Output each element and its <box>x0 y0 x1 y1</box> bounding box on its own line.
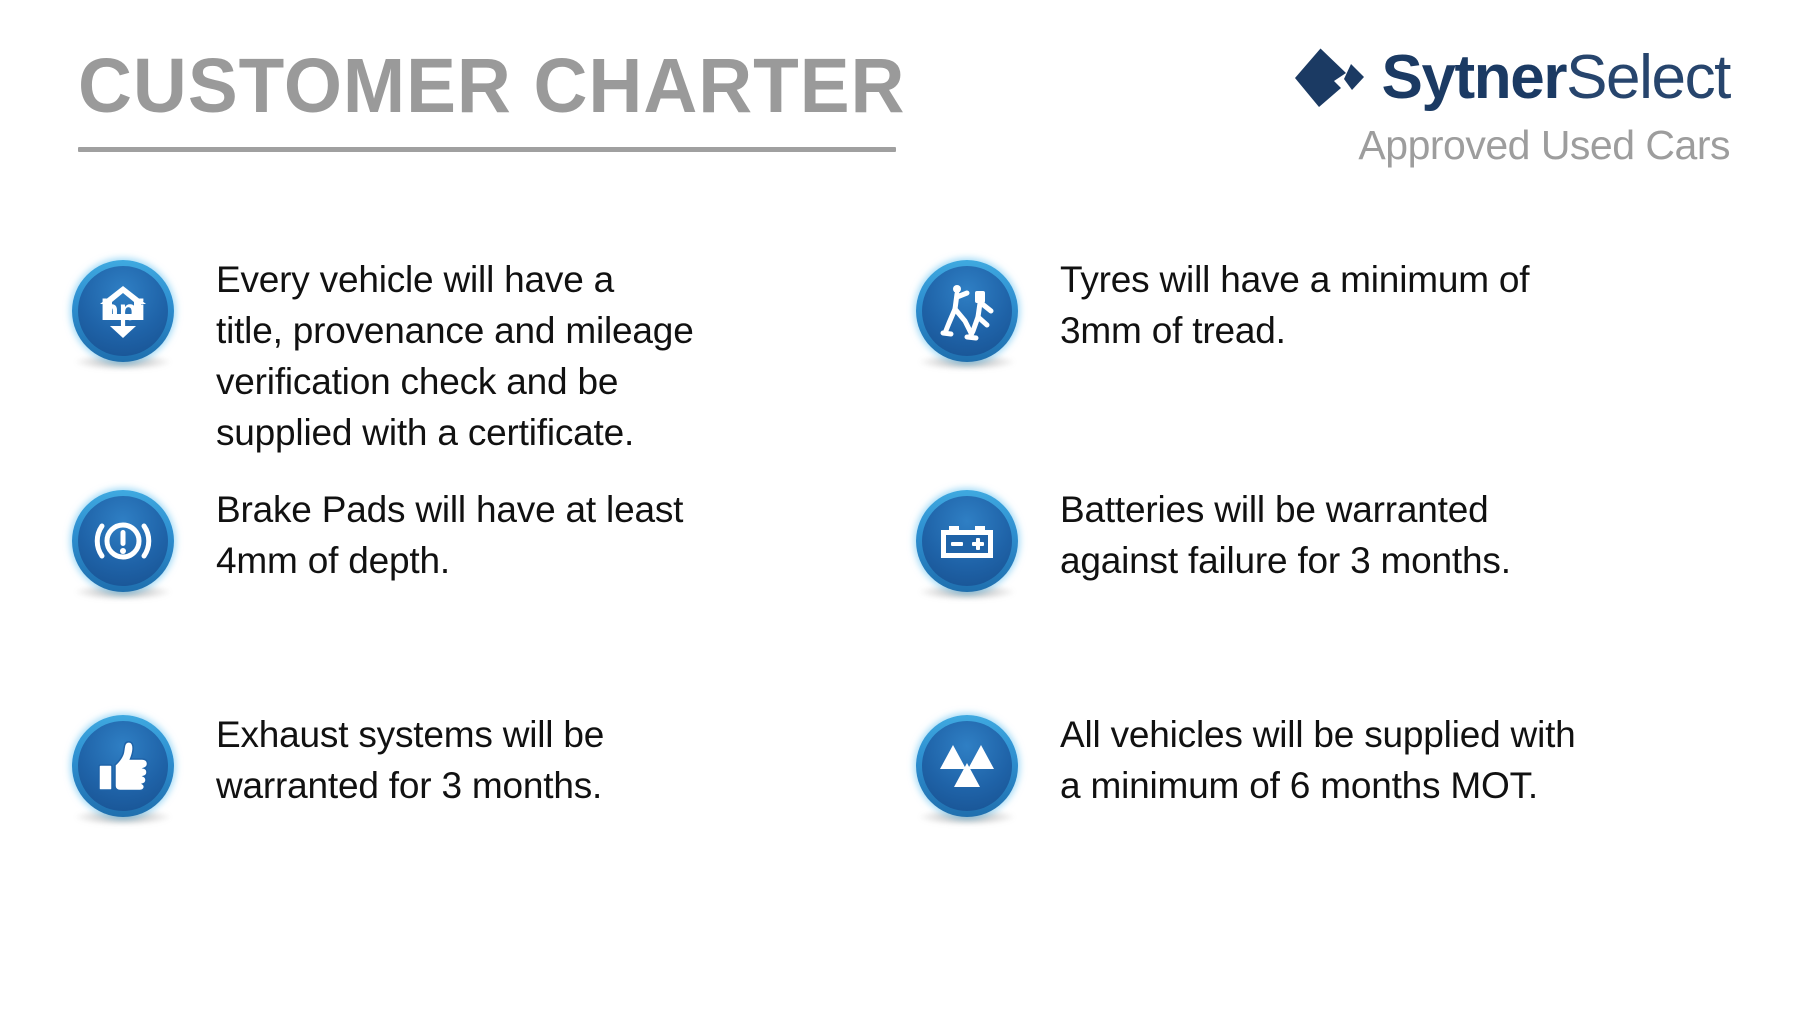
logo-lockup: SytnerSelect <box>1260 40 1730 116</box>
sytner-select-logo: SytnerSelect Approved Used Cars <box>1260 40 1730 168</box>
charter-item-text: Brake Pads will have at least 4mm of dep… <box>216 482 683 586</box>
charter-badge: hpi <box>72 260 174 362</box>
charter-items-grid: hpi Every vehicle will have a title, pro… <box>0 252 1800 937</box>
page-header: CUSTOMER CHARTER SytnerSelect Approved U… <box>0 0 1800 200</box>
title-block: CUSTOMER CHARTER <box>78 48 898 152</box>
charter-item: Tyres will have a minimum of 3mm of trea… <box>880 252 1760 482</box>
car-battery-icon <box>922 496 1012 586</box>
customer-charter-page: CUSTOMER CHARTER SytnerSelect Approved U… <box>0 0 1800 1012</box>
tyre-tread-pedestrians-icon <box>922 266 1012 356</box>
charter-badge <box>916 715 1018 817</box>
charter-badge <box>72 490 174 592</box>
charter-item: hpi Every vehicle will have a title, pro… <box>0 252 880 482</box>
thumbs-up-icon <box>78 721 168 811</box>
svg-text:hpi: hpi <box>101 294 146 327</box>
charter-item-text: Every vehicle will have a title, provena… <box>216 252 694 458</box>
brake-warning-icon <box>78 496 168 586</box>
charter-item: All vehicles will be supplied with a min… <box>880 707 1760 937</box>
logo-word-select: Select <box>1566 43 1730 112</box>
mot-triangles-icon <box>922 721 1012 811</box>
logo-wordmark: SytnerSelect <box>1382 47 1731 109</box>
charter-badge <box>916 260 1018 362</box>
charter-badge <box>72 715 174 817</box>
sytner-diamond-icon <box>1294 47 1368 109</box>
charter-item-text: Batteries will be warranted against fail… <box>1060 482 1511 586</box>
title-divider <box>78 147 896 152</box>
charter-item-text: Tyres will have a minimum of 3mm of trea… <box>1060 252 1529 356</box>
charter-item: Batteries will be warranted against fail… <box>880 482 1760 707</box>
logo-word-sytner: Sytner <box>1382 43 1567 112</box>
charter-item: Brake Pads will have at least 4mm of dep… <box>0 482 880 707</box>
charter-badge <box>916 490 1018 592</box>
charter-item-text: All vehicles will be supplied with a min… <box>1060 707 1576 811</box>
charter-item: Exhaust systems will be warranted for 3 … <box>0 707 880 937</box>
logo-tagline: Approved Used Cars <box>1260 122 1730 168</box>
charter-item-text: Exhaust systems will be warranted for 3 … <box>216 707 604 811</box>
hpi-logo-icon: hpi <box>78 266 168 356</box>
page-title: CUSTOMER CHARTER <box>78 48 873 125</box>
